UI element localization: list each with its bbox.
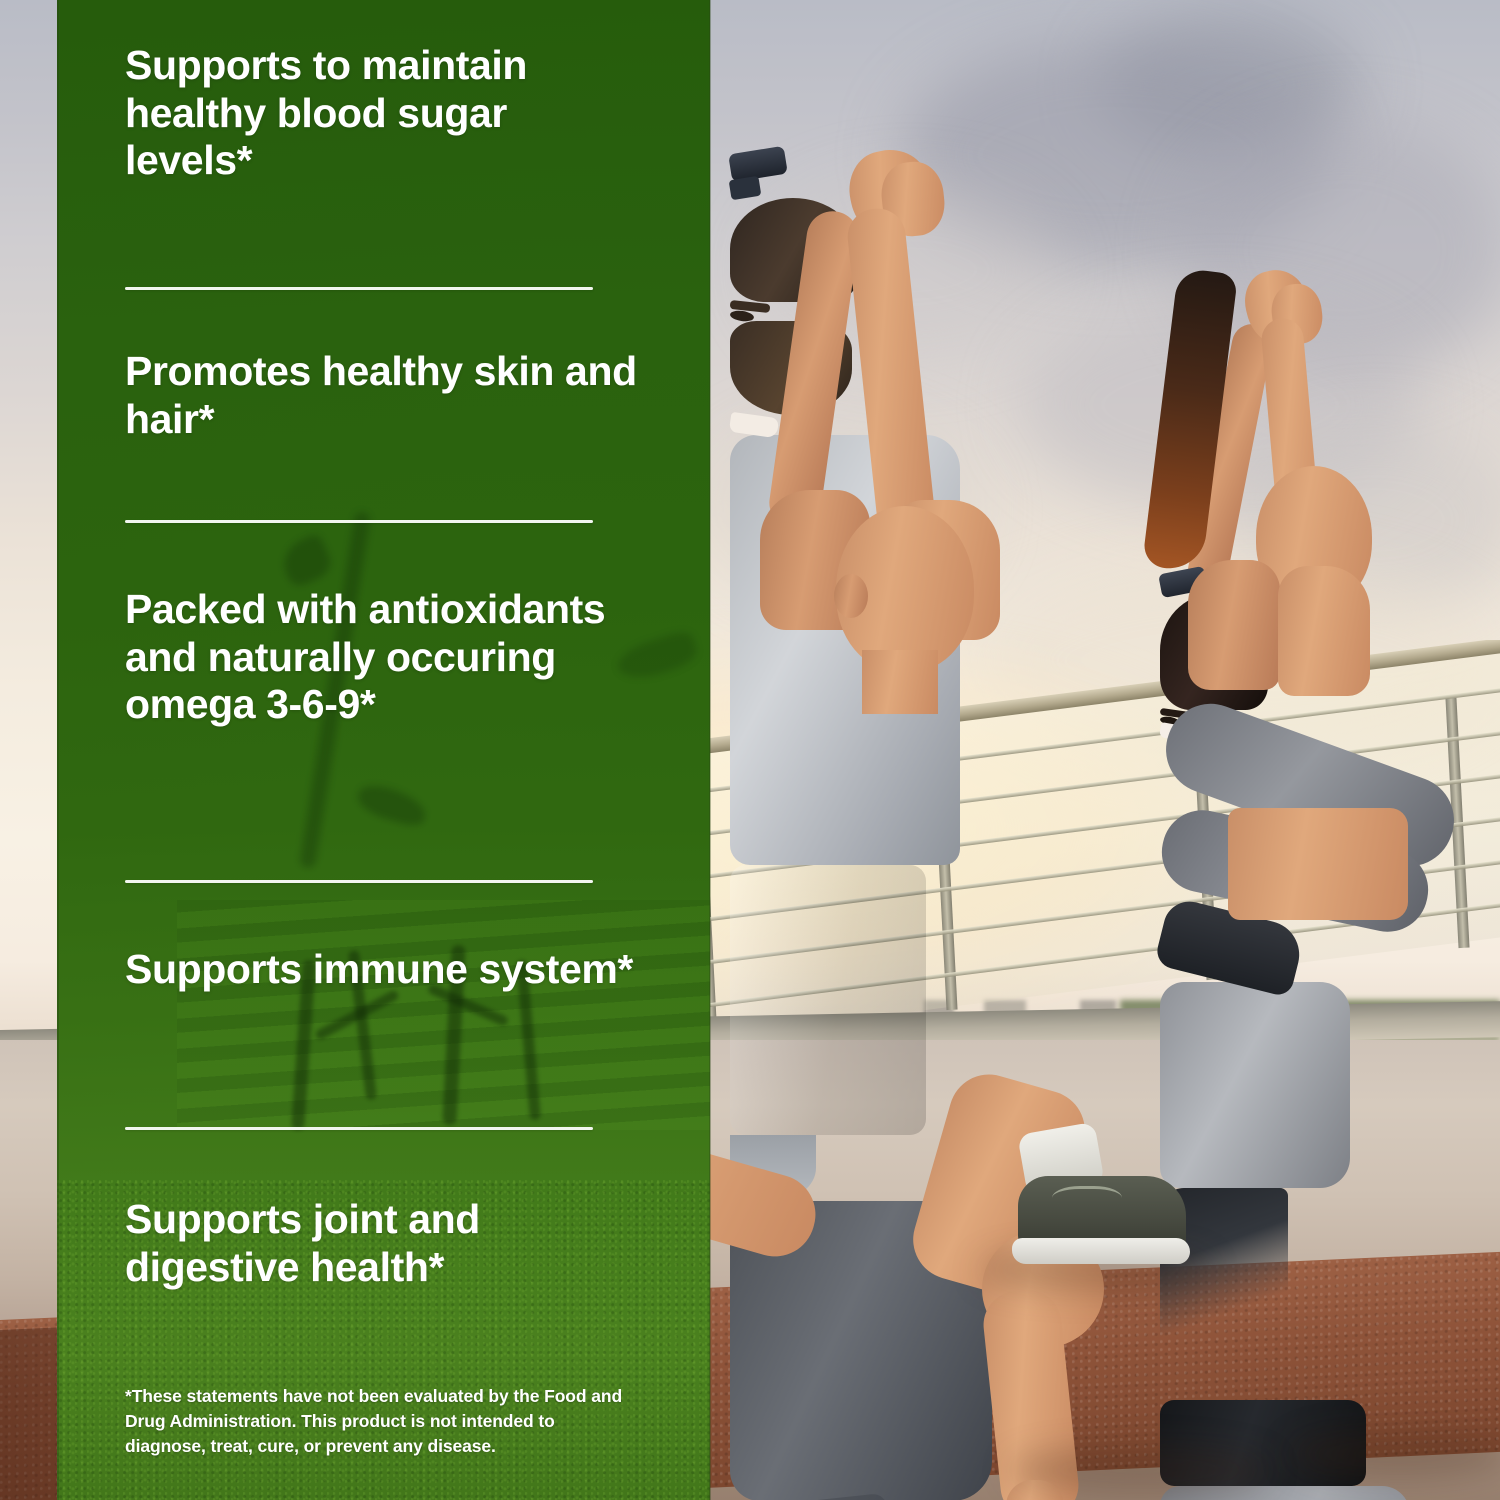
product-feature-banner: Supports to maintain healthy blood sugar… [0, 0, 1500, 1500]
benefit-divider [125, 520, 593, 523]
benefits-panel: Supports to maintain healthy blood sugar… [57, 0, 710, 1500]
man-neck [862, 650, 938, 714]
benefit-divider [125, 287, 593, 290]
benefit-blood-sugar: Supports to maintain healthy blood sugar… [125, 42, 645, 185]
benefit-divider [125, 1127, 593, 1130]
woman-shoulder [1278, 566, 1370, 696]
woman-midriff [1228, 808, 1408, 920]
benefits-list: Supports to maintain healthy blood sugar… [57, 0, 710, 1500]
benefit-divider [125, 880, 593, 883]
man-tank-fold [730, 865, 926, 1135]
fda-disclaimer: *These statements have not been evaluate… [125, 1384, 637, 1460]
man-smile [729, 412, 779, 438]
benefit-skin-hair: Promotes healthy skin and hair* [125, 348, 645, 443]
man-back-shoe-laces [1052, 1186, 1122, 1216]
man-back-shoe-sole [1012, 1238, 1190, 1264]
front-shoe-shadow [1010, 1448, 1270, 1492]
man-fitness-band-face [729, 176, 762, 200]
man-ear [834, 574, 868, 618]
benefit-immune: Supports immune system* [125, 946, 645, 994]
benefit-joint-digestive: Supports joint and digestive health* [125, 1196, 645, 1291]
panel-right-edge [709, 0, 711, 1500]
benefit-antioxidants: Packed with antioxidants and naturally o… [125, 586, 645, 729]
woman-shoe-shadow [1290, 1430, 1500, 1478]
panel-left-edge [57, 0, 59, 1500]
